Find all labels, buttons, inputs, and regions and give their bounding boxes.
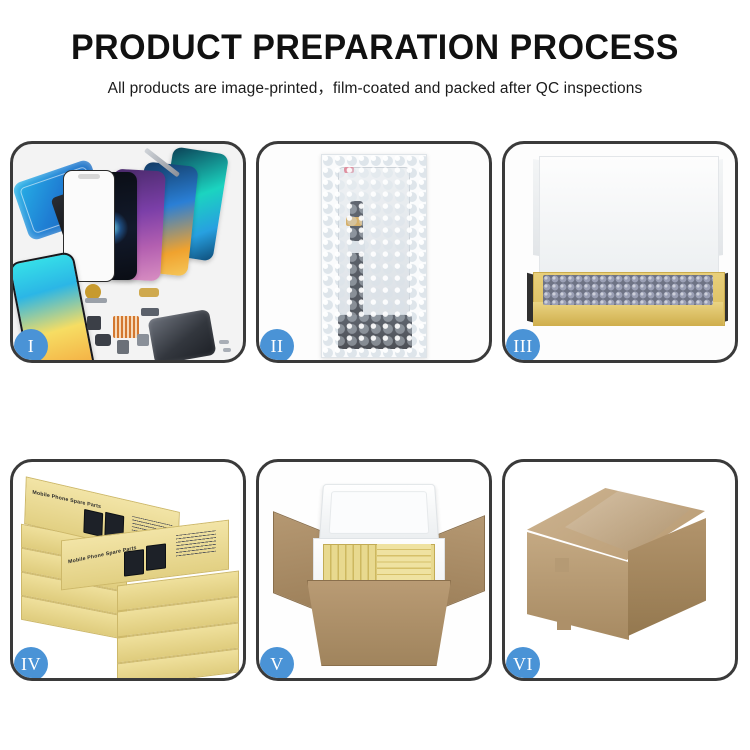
ic-chip: [348, 241, 365, 253]
header: PRODUCT PREPARATION PROCESS All products…: [0, 0, 750, 98]
process-step-5: V: [256, 459, 492, 681]
bubble-wrap-padding: [543, 275, 713, 305]
foam-carton-loading-illustration: [259, 462, 489, 678]
gold-connector: [346, 217, 362, 226]
box-lid-panel: [539, 156, 719, 280]
screw-part: [223, 348, 231, 352]
foam-lid: [319, 484, 439, 542]
step-number-badge: V: [260, 647, 294, 681]
product-preparation-page: PRODUCT PREPARATION PROCESS All products…: [0, 0, 750, 750]
driver-board: [338, 315, 412, 349]
process-step-3: III: [502, 141, 738, 363]
sealed-shipping-carton-illustration: [505, 462, 735, 678]
box-artwork-screen: [124, 549, 144, 576]
button-part: [117, 340, 129, 354]
connector-part: [139, 288, 159, 297]
stacked-retail-boxes-illustration: Mobile Phone Spare Parts Mobile Phone Sp…: [13, 462, 243, 678]
bubble-wrapped-part-illustration: [259, 144, 489, 360]
process-step-6: VI: [502, 459, 738, 681]
cable-part: [141, 308, 159, 316]
page-title: PRODUCT PREPARATION PROCESS: [11, 30, 739, 67]
step-image-panel: I: [10, 141, 246, 363]
kraft-box-front: [533, 302, 723, 326]
phone-notch: [78, 174, 100, 179]
parts-assortment-illustration: [13, 144, 243, 360]
step-number-badge: IV: [14, 647, 48, 681]
step-number-badge: VI: [506, 647, 540, 681]
process-step-4: Mobile Phone Spare Parts Mobile Phone Sp…: [10, 459, 246, 681]
small-components-group: [85, 284, 235, 360]
step-image-panel: II: [256, 141, 492, 363]
speaker-part: [95, 334, 111, 346]
carton-tape-mark-lower: [557, 618, 571, 630]
page-subtitle: All products are image-printed，film-coat…: [0, 76, 750, 98]
screw-part: [219, 340, 229, 344]
bracket-part: [87, 316, 101, 330]
cardboard-carton-body: [307, 580, 451, 666]
open-kraft-box-illustration: [505, 144, 735, 360]
process-step-1: I: [10, 141, 246, 363]
process-step-grid: I II: [10, 141, 740, 681]
phone-back-housing: [147, 309, 216, 360]
step-image-panel: Mobile Phone Spare Parts Mobile Phone Sp…: [10, 459, 246, 681]
step-image-panel: V: [256, 459, 492, 681]
flex-strip-part: [85, 298, 107, 303]
contact-grid-chip: [113, 316, 139, 338]
sim-tray-part: [137, 334, 149, 346]
step-number-badge: II: [260, 329, 294, 363]
bubble-wrap-bag: [321, 154, 427, 358]
qc-sticker: [344, 167, 354, 173]
box-stack: Mobile Phone Spare Parts Mobile Phone Sp…: [21, 486, 243, 676]
step-number-badge: III: [506, 329, 540, 363]
carton-tape-mark-upper: [555, 558, 569, 572]
step-image-panel: III: [502, 141, 738, 363]
process-step-2: II: [256, 141, 492, 363]
box-artwork-screen: [83, 509, 103, 537]
step-number-badge: I: [14, 329, 48, 363]
step-image-panel: VI: [502, 459, 738, 681]
box-artwork-screen: [146, 543, 166, 570]
